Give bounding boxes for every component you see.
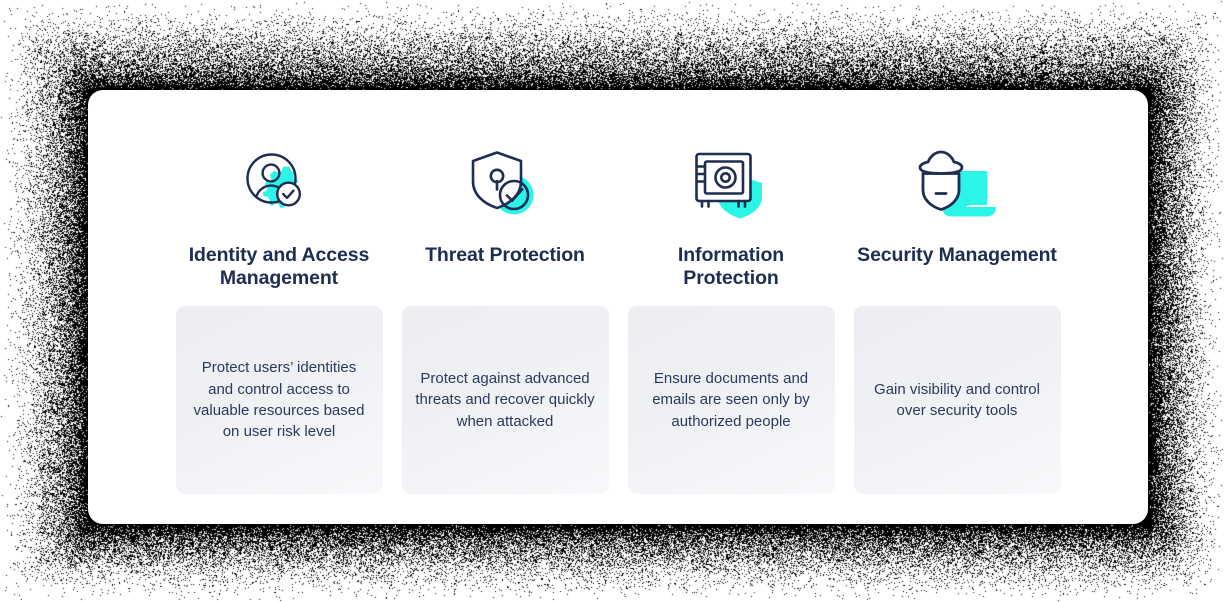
feature-description: Protect users’ identities and control ac… bbox=[189, 357, 370, 442]
feature-column-identity-and-access-management[interactable]: Identity and Access Management Protect u… bbox=[166, 140, 392, 494]
feature-card[interactable]: Ensure documents and emails are seen onl… bbox=[628, 306, 835, 494]
feature-description: Protect against advanced threats and rec… bbox=[415, 368, 596, 432]
feature-title: Identity and Access Management bbox=[179, 244, 379, 292]
feature-column-information-protection[interactable]: Information Protection Ensure documents … bbox=[618, 140, 844, 494]
feature-column-threat-protection[interactable]: Threat Protection Protect against advanc… bbox=[392, 140, 618, 494]
feature-card[interactable]: Protect users’ identities and control ac… bbox=[176, 306, 383, 494]
information-protection-icon bbox=[688, 140, 774, 232]
feature-description: Gain visibility and control over securit… bbox=[867, 379, 1048, 422]
feature-column-security-management[interactable]: Security Management Gain visibility and … bbox=[844, 140, 1070, 494]
security-management-icon bbox=[911, 140, 1003, 232]
screenshot-stage: Identity and Access Management Protect u… bbox=[0, 0, 1225, 602]
feature-title: Security Management bbox=[857, 244, 1057, 292]
feature-title: Information Protection bbox=[631, 244, 831, 292]
feature-columns: Identity and Access Management Protect u… bbox=[88, 90, 1148, 524]
feature-description: Ensure documents and emails are seen onl… bbox=[641, 368, 822, 432]
identity-access-icon bbox=[236, 140, 322, 232]
feature-card[interactable]: Protect against advanced threats and rec… bbox=[402, 306, 609, 494]
feature-title: Threat Protection bbox=[405, 244, 605, 292]
feature-card[interactable]: Gain visibility and control over securit… bbox=[854, 306, 1061, 494]
threat-protection-icon bbox=[462, 140, 548, 232]
